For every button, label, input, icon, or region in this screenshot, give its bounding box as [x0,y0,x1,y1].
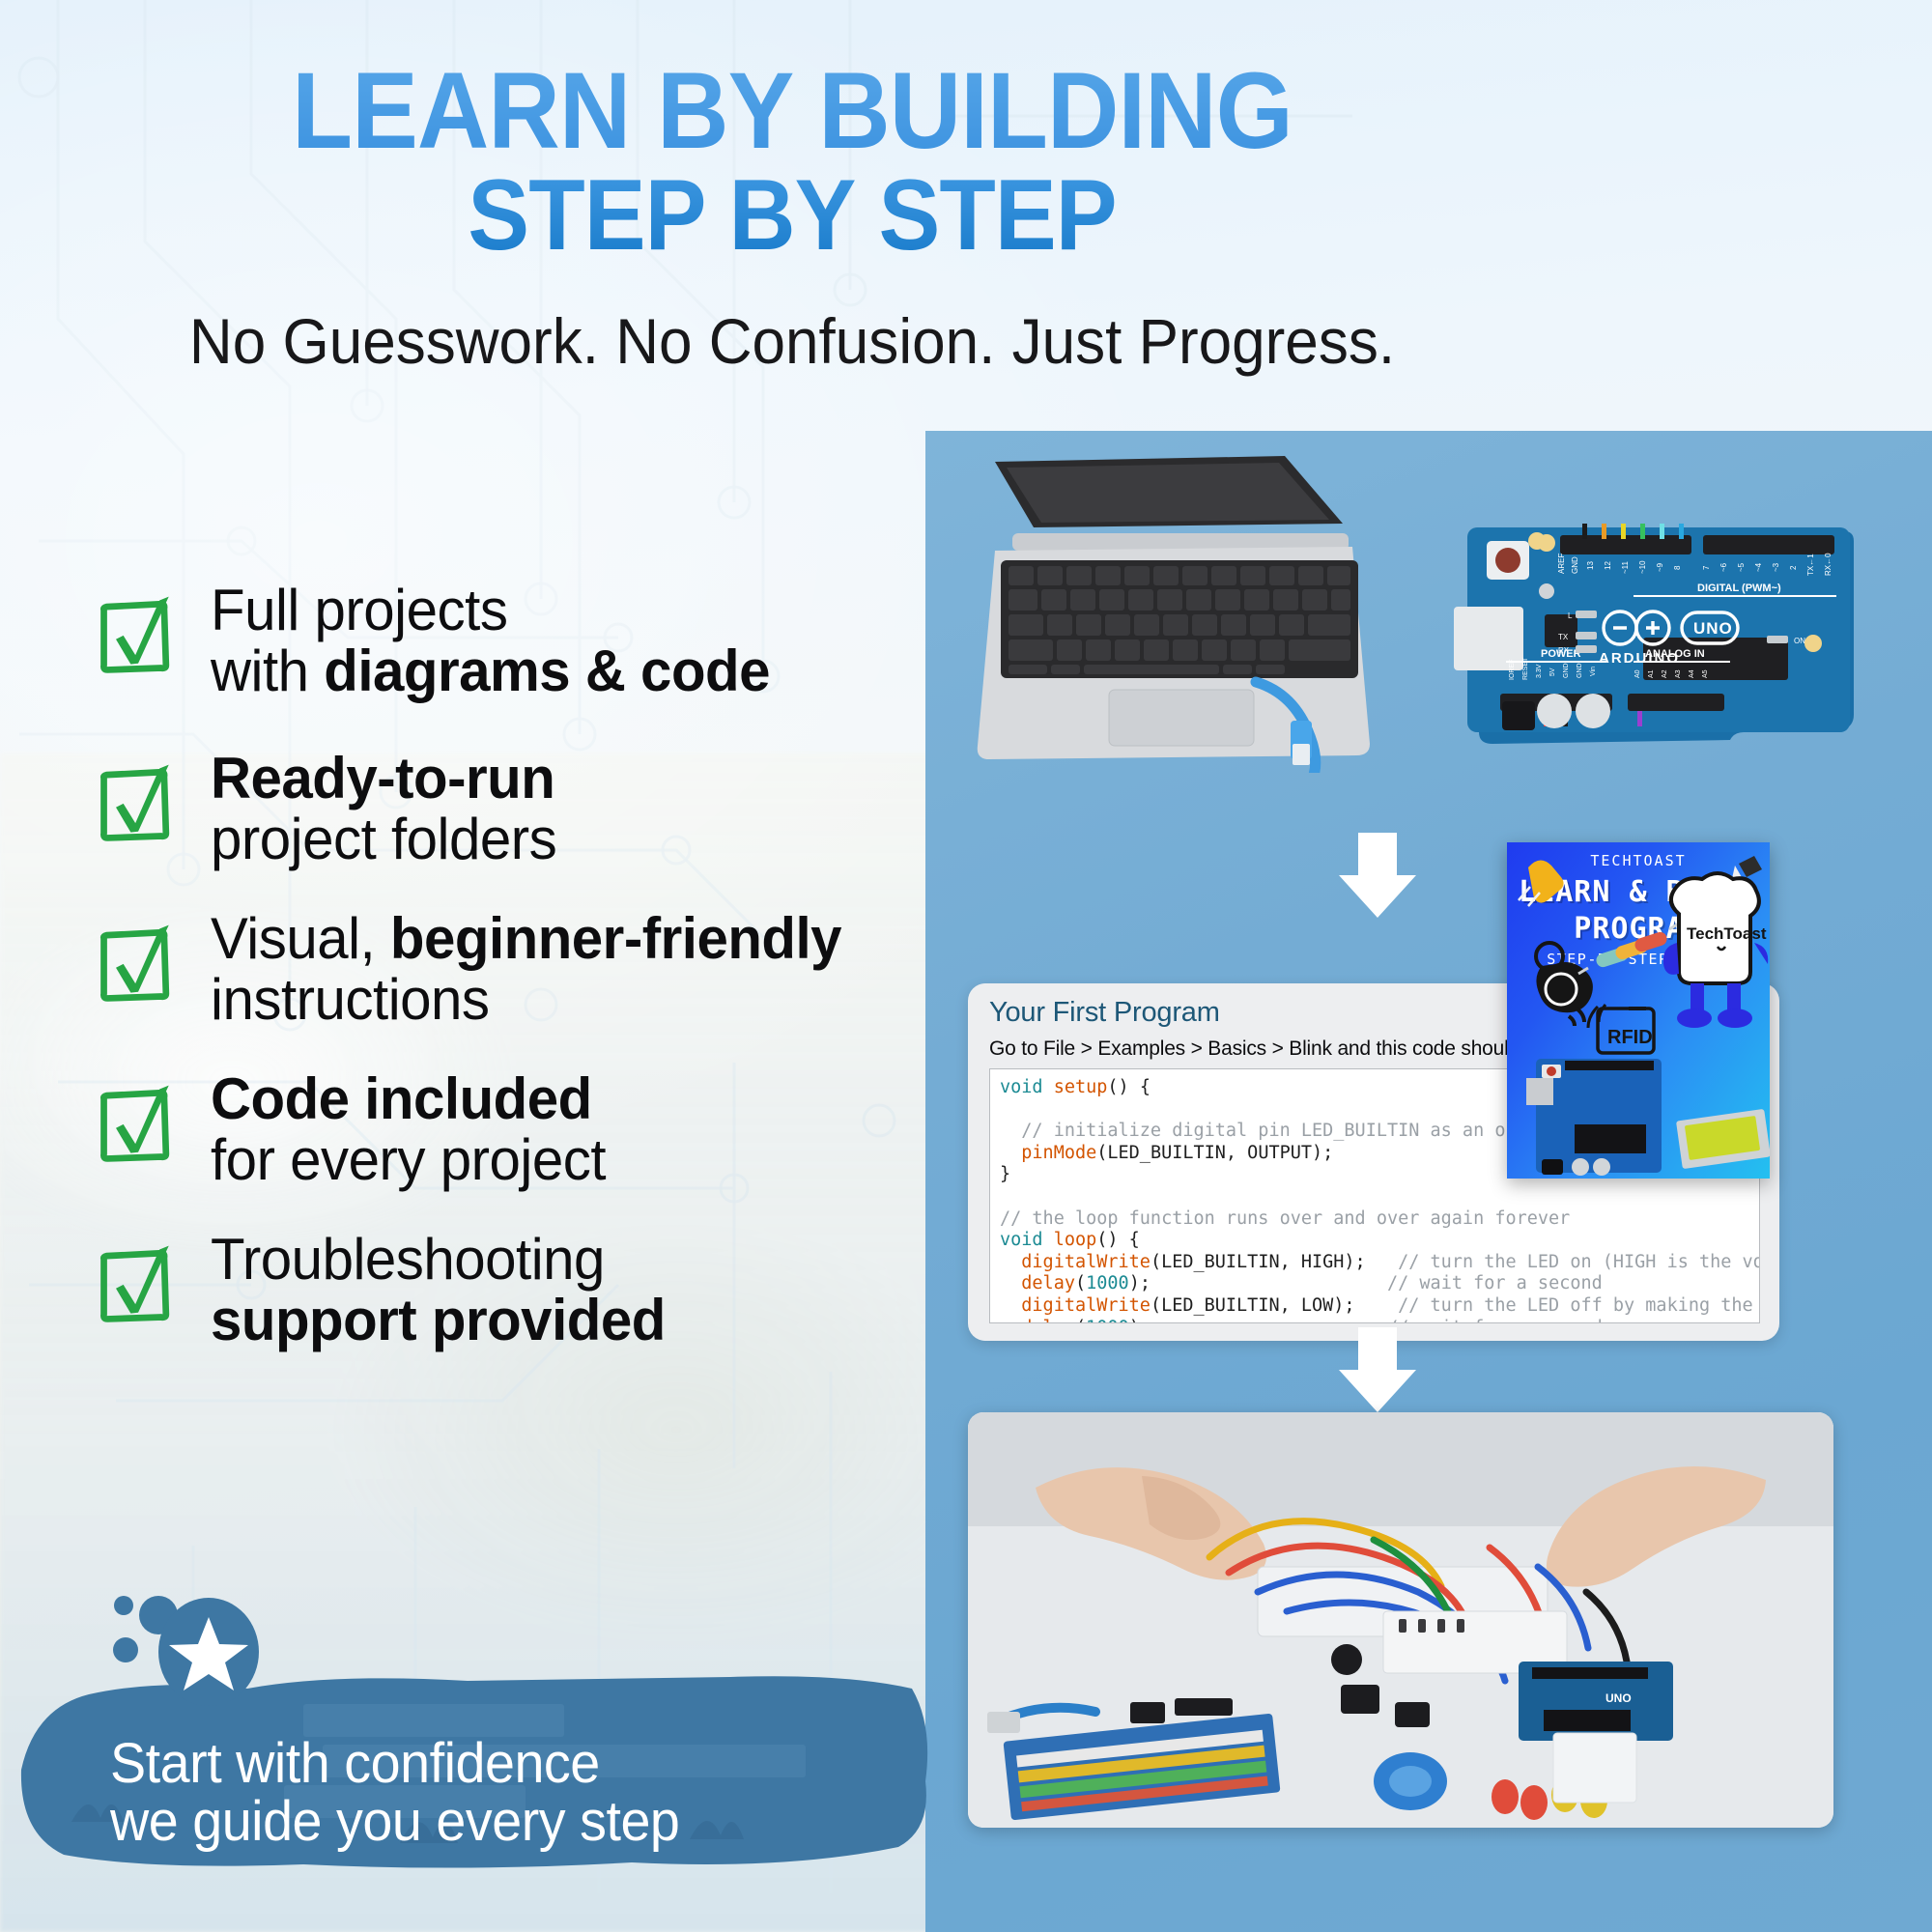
svg-text:GND: GND [1563,663,1570,678]
line-1: Code included [211,1068,606,1129]
svg-text:~10: ~10 [1638,560,1647,574]
banner-line-2: we guide you every step [110,1793,889,1851]
svg-text:3.3V: 3.3V [1536,664,1543,678]
svg-text:TX: TX [1558,633,1569,641]
svg-text:A1: A1 [1648,669,1655,678]
toast-mascot-icon: TechToast [1663,873,1768,1028]
line-2: for every project [211,1129,606,1190]
list-item: Full projects with diagrams & code [93,580,943,701]
svg-text:ON: ON [1794,637,1805,645]
line-1-prefix: Visual, [211,906,390,971]
code-card-title: Your First Program [989,997,1220,1029]
line-1: Full projects [211,580,770,640]
svg-text:RFID: RFID [1607,1027,1653,1048]
title-line-1: LEARN BY BUILDING [64,60,1521,161]
list-item: Code included for every project [93,1068,943,1190]
rfid-tag-icon [1536,943,1593,1026]
rfid-card-icon: RFID [1588,1005,1654,1053]
banner-line-1: Start with confidence [110,1735,889,1793]
svg-text:GND: GND [1577,663,1583,678]
line-2: project folders [211,809,556,869]
svg-text:A0: A0 [1634,669,1641,678]
svg-text:2: 2 [1789,565,1798,570]
confidence-banner: Start with confidence we guide you every… [14,1580,941,1880]
line-1: Troubleshooting [211,1229,666,1290]
svg-text:Vin: Vin [1590,667,1597,676]
line-2: instructions [211,969,841,1030]
arduino-board-icon [1526,1059,1662,1176]
list-item: Troubleshooting support provided [93,1229,943,1350]
list-item-label: Full projects with diagrams & code [211,580,770,701]
svg-text:A5: A5 [1702,669,1709,678]
line-2-bold: support provided [211,1288,666,1352]
checkbox-checked-icon [93,1236,185,1329]
line-2: support provided [211,1290,666,1350]
line-1: Ready-to-run [211,748,556,809]
svg-text:~6: ~6 [1719,562,1728,572]
svg-text:RESET: RESET [1522,657,1529,680]
list-item: Visual, beginner-friendly instructions [93,908,943,1030]
poster-canvas: LEARN BY BUILDING STEP BY STEP No Guessw… [0,0,1932,1932]
svg-text:~4: ~4 [1754,562,1763,572]
list-item-label: Ready-to-run project folders [211,748,556,869]
title-line-2: STEP BY STEP [64,169,1521,264]
arrow-down-icon [1335,1323,1420,1416]
svg-text:RX: RX [1558,646,1570,655]
page-title: LEARN BY BUILDING STEP BY STEP [0,60,1584,264]
svg-text:~9: ~9 [1656,562,1664,572]
banner-text: Start with confidence we guide you every… [110,1735,889,1850]
hands-wiring-photo: UNO [968,1412,1833,1828]
checkbox-checked-icon [93,755,185,848]
list-item-label: Visual, beginner-friendly instructions [211,908,841,1030]
svg-text:DIGITAL (PWM~): DIGITAL (PWM~) [1697,582,1781,594]
svg-text:GND: GND [1571,556,1579,574]
board-brand: ARDUINO [1599,650,1680,667]
checkbox-checked-icon [93,1076,185,1169]
line-1-bold: Ready-to-run [211,746,554,810]
line-2-bold: diagrams & code [324,639,770,703]
board-model: UNO [1693,619,1733,638]
svg-text:A2: A2 [1662,669,1668,678]
svg-text:A4: A4 [1689,669,1695,678]
resistor-icon [1578,923,1679,974]
arduino-board-illustration: AREF GND 13 12 ~11 ~10 ~9 8 7 ~6 ~5 ~4 ~… [1454,522,1869,773]
checkbox-checked-icon [93,916,185,1009]
line-2: with diagrams & code [211,640,770,701]
led-icon [1519,860,1564,906]
list-item: Ready-to-run project folders [93,748,943,869]
star-badge-icon [158,1598,259,1706]
line-2-prefix: with [211,639,324,703]
svg-text:13: 13 [1586,561,1595,570]
code-card-instruction: Go to File > Examples > Basics > Blink a… [989,1037,1575,1061]
line-1-bold: beginner-friendly [390,906,841,971]
svg-text:A3: A3 [1675,669,1682,678]
laptop-illustration [966,454,1372,773]
svg-text:UNO: UNO [1605,1691,1632,1705]
svg-text:RX←0: RX←0 [1824,553,1833,576]
page-subtitle: No Guesswork. No Confusion. Just Progres… [47,309,1537,373]
line-1: Visual, beginner-friendly [211,908,841,969]
feature-checklist: Full projects with diagrams & code Ready… [93,580,943,1389]
arduino-photo-shape: UNO [1519,1662,1673,1741]
svg-text:~3: ~3 [1772,562,1780,572]
rfid-keyfob-shape [1374,1752,1447,1810]
svg-text:~11: ~11 [1621,560,1630,574]
svg-text:AREF: AREF [1557,554,1566,574]
book-cover: TECHTOAST LEARN & BUILD PROGRAM STEP-BY-… [1507,842,1770,1179]
svg-text:L: L [1568,611,1573,620]
list-item-label: Troubleshooting support provided [211,1229,666,1350]
checkbox-checked-icon [93,587,185,680]
svg-text:12: 12 [1604,561,1612,570]
svg-text:~5: ~5 [1737,562,1746,572]
list-item-label: Code included for every project [211,1068,606,1190]
lcd-display-icon [1676,1109,1770,1169]
line-1-bold: Code included [211,1066,592,1131]
svg-text:7: 7 [1702,565,1711,570]
svg-text:8: 8 [1673,565,1682,570]
arrow-down-icon [1335,829,1420,922]
svg-text:TechToast: TechToast [1687,924,1767,943]
svg-text:5V: 5V [1549,668,1556,676]
svg-text:TX←1: TX←1 [1806,554,1815,576]
